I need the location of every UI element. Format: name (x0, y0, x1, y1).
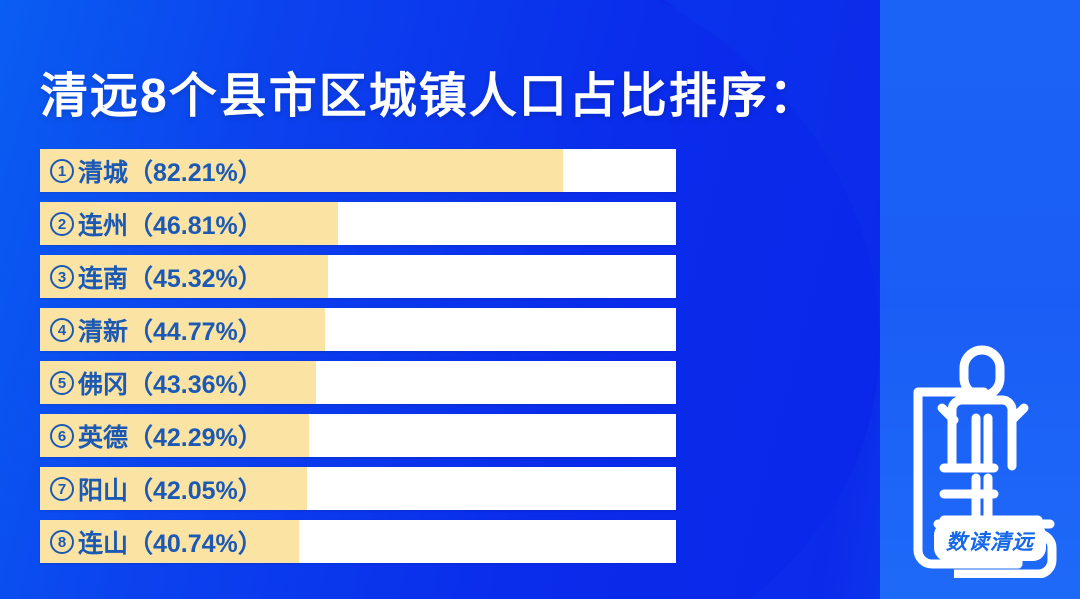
bar-label: 7阳山（42.05%） (50, 467, 263, 510)
bar-label-text: 佛冈（43.36%） (78, 365, 263, 401)
bar-row: 3连南（45.32%） (40, 255, 676, 298)
brand-logo: 数读清远 (898, 338, 1066, 578)
bar-label: 1清城（82.21%） (50, 149, 263, 192)
bar-label-text: 清新（44.77%） (78, 312, 263, 348)
bar-label-text: 连州（46.81%） (78, 206, 263, 242)
rank-badge: 6 (50, 424, 74, 448)
rank-badge: 3 (50, 265, 74, 289)
rank-badge: 4 (50, 318, 74, 342)
logo-text: 数读清远 (934, 522, 1046, 561)
bar-label-text: 阳山（42.05%） (78, 471, 263, 507)
bar-label-text: 英德（42.29%） (78, 418, 263, 454)
bar-label: 3连南（45.32%） (50, 255, 263, 298)
bar-label: 4清新（44.77%） (50, 308, 263, 351)
bar-row: 8连山（40.74%） (40, 520, 676, 563)
bar-label-text: 连山（40.74%） (78, 524, 263, 560)
rank-badge: 5 (50, 371, 74, 395)
bar-label: 2连州（46.81%） (50, 202, 263, 245)
poster-canvas: 清远8个县市区城镇人口占比排序： 1清城（82.21%）2连州（46.81%）3… (0, 0, 1080, 599)
rank-badge: 7 (50, 477, 74, 501)
bar-row: 7阳山（42.05%） (40, 467, 676, 510)
bar-label: 5佛冈（43.36%） (50, 361, 263, 404)
rank-badge: 1 (50, 159, 74, 183)
bar-label: 8连山（40.74%） (50, 520, 263, 563)
bar-row: 5佛冈（43.36%） (40, 361, 676, 404)
bar-row: 6英德（42.29%） (40, 414, 676, 457)
bar-row: 4清新（44.77%） (40, 308, 676, 351)
rank-badge: 2 (50, 212, 74, 236)
bar-row: 2连州（46.81%） (40, 202, 676, 245)
bar-label: 6英德（42.29%） (50, 414, 263, 457)
bar-chart: 1清城（82.21%）2连州（46.81%）3连南（45.32%）4清新（44.… (40, 149, 676, 573)
rank-badge: 8 (50, 530, 74, 554)
bar-label-text: 清城（82.21%） (78, 153, 263, 189)
bar-row: 1清城（82.21%） (40, 149, 676, 192)
page-title: 清远8个县市区城镇人口占比排序： (40, 56, 819, 126)
bar-label-text: 连南（45.32%） (78, 259, 263, 295)
